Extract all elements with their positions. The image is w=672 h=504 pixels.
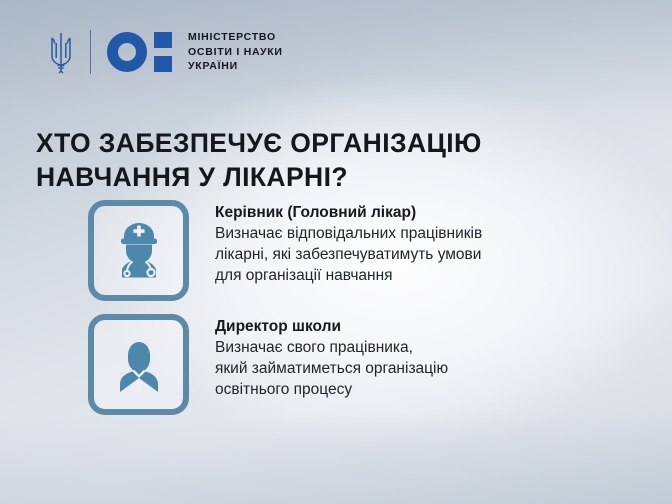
ministry-line-3: УКРАЇНИ bbox=[188, 60, 238, 72]
ministry-line-1: МІНІСТЕРСТВО bbox=[188, 31, 276, 43]
school-principal-desc-line-1: Визначає свого працівника, bbox=[215, 338, 448, 359]
head-doctor-desc-line-2: лікарні, які забезпечуватимуть умови bbox=[215, 245, 482, 266]
title-line-1: ХТО ЗАБЕЗПЕЧУЄ ОРГАНІЗАЦІЮ bbox=[36, 126, 616, 161]
school-principal-description: Визначає свого працівника, який займатим… bbox=[215, 338, 448, 401]
school-principal-text: Директор школи Визначає свого працівника… bbox=[189, 314, 448, 401]
roles-list: Керівник (Головний лікар) Визначає відпо… bbox=[88, 200, 648, 428]
head-doctor-title: Керівник (Головний лікар) bbox=[215, 203, 482, 223]
ministry-logo-block: МІНІСТЕРСТВО ОСВІТИ І НАУКИ УКРАЇНИ bbox=[48, 24, 283, 80]
school-principal-icon-frame bbox=[88, 314, 189, 415]
infographic-slide: МІНІСТЕРСТВО ОСВІТИ І НАУКИ УКРАЇНИ ХТО … bbox=[0, 0, 672, 504]
school-principal-desc-line-2: який займатиметься організацію bbox=[215, 359, 448, 380]
logo-divider bbox=[90, 30, 91, 74]
school-principal-title: Директор школи bbox=[215, 317, 448, 337]
head-doctor-description: Визначає відповідальних працівників ліка… bbox=[215, 224, 482, 287]
page-title: ХТО ЗАБЕЗПЕЧУЄ ОРГАНІЗАЦІЮ НАВЧАННЯ У ЛІ… bbox=[36, 126, 616, 195]
doctor-icon-frame bbox=[88, 200, 189, 301]
ministry-line-2: ОСВІТИ І НАУКИ bbox=[188, 46, 283, 58]
school-principal-desc-line-3: освітнього процесу bbox=[215, 380, 448, 401]
ukrainian-trident-emblem-icon bbox=[48, 30, 74, 74]
list-item-head-doctor: Керівник (Головний лікар) Визначає відпо… bbox=[88, 200, 648, 301]
head-doctor-text: Керівник (Головний лікар) Визначає відпо… bbox=[189, 200, 482, 287]
logo-ring-shape bbox=[107, 32, 147, 72]
ministry-name: МІНІСТЕРСТВО ОСВІТИ І НАУКИ УКРАЇНИ bbox=[188, 30, 283, 75]
school-principal-icon bbox=[102, 328, 176, 402]
head-doctor-desc-line-1: Визначає відповідальних працівників bbox=[215, 224, 482, 245]
logo-bars-shape bbox=[154, 32, 172, 72]
mon-o-logo-icon bbox=[107, 30, 172, 74]
head-doctor-desc-line-3: для організації навчання bbox=[215, 266, 482, 287]
list-item-school-principal: Директор школи Визначає свого працівника… bbox=[88, 314, 648, 415]
doctor-icon bbox=[102, 214, 176, 288]
title-line-2: НАВЧАННЯ У ЛІКАРНІ? bbox=[36, 160, 616, 195]
